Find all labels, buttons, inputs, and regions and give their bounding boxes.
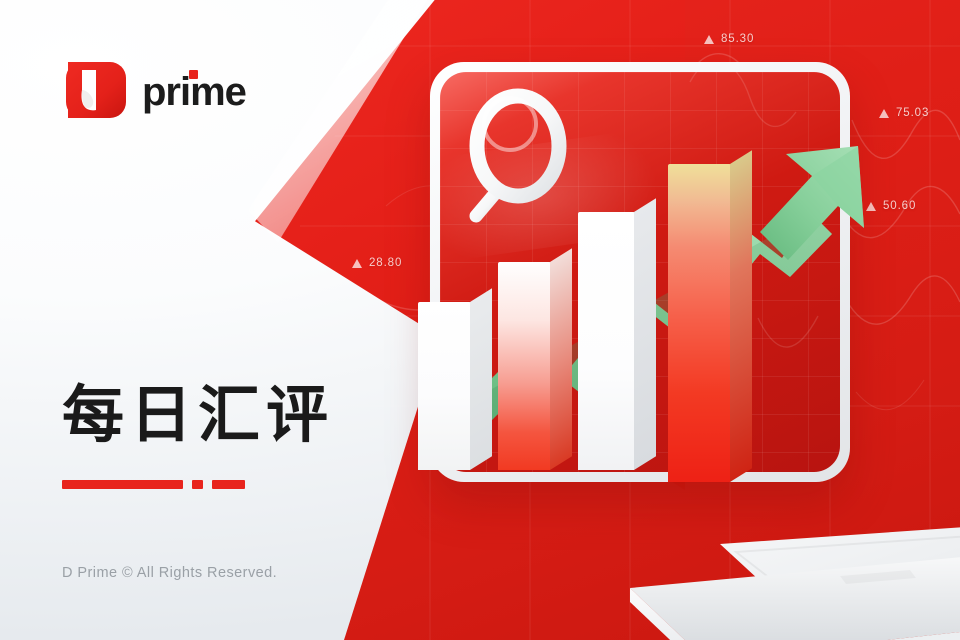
ticker-label: 75.03 xyxy=(896,107,929,119)
promo-banner: 85.30 75.03 50.60 28.80 xyxy=(0,0,960,640)
bar-3-side xyxy=(634,198,656,470)
bar-1 xyxy=(418,302,470,470)
d-prime-logo-mark xyxy=(62,56,130,124)
bar-1-face xyxy=(418,302,470,470)
bar-3-face xyxy=(578,212,634,470)
title-underline-rule xyxy=(62,480,245,489)
device-base-platform xyxy=(610,492,960,640)
bar-chart-bars xyxy=(330,62,890,542)
ticker-label: 85.30 xyxy=(721,33,754,45)
page-title: 每日汇评 xyxy=(62,384,334,446)
bar-3 xyxy=(578,212,634,470)
bar-4 xyxy=(668,164,730,482)
brand-logo[interactable]: prime xyxy=(62,56,246,124)
bar-2 xyxy=(498,262,550,470)
bar-4-face xyxy=(668,164,730,482)
rule-segment-mid xyxy=(212,480,245,489)
logo-i-dot xyxy=(189,70,198,79)
bar-2-face xyxy=(498,262,550,470)
rule-segment-long xyxy=(62,480,183,489)
logo-wordmark: prime xyxy=(142,72,246,112)
up-triangle-icon xyxy=(704,35,714,44)
chart-illustration xyxy=(330,62,890,542)
copyright-text: D Prime © All Rights Reserved. xyxy=(62,565,277,581)
bar-1-side xyxy=(470,288,492,470)
ticker-value-1: 85.30 xyxy=(704,33,754,45)
bar-4-side xyxy=(730,150,752,482)
bar-2-side xyxy=(550,248,572,470)
rule-segment-dot xyxy=(192,480,203,489)
